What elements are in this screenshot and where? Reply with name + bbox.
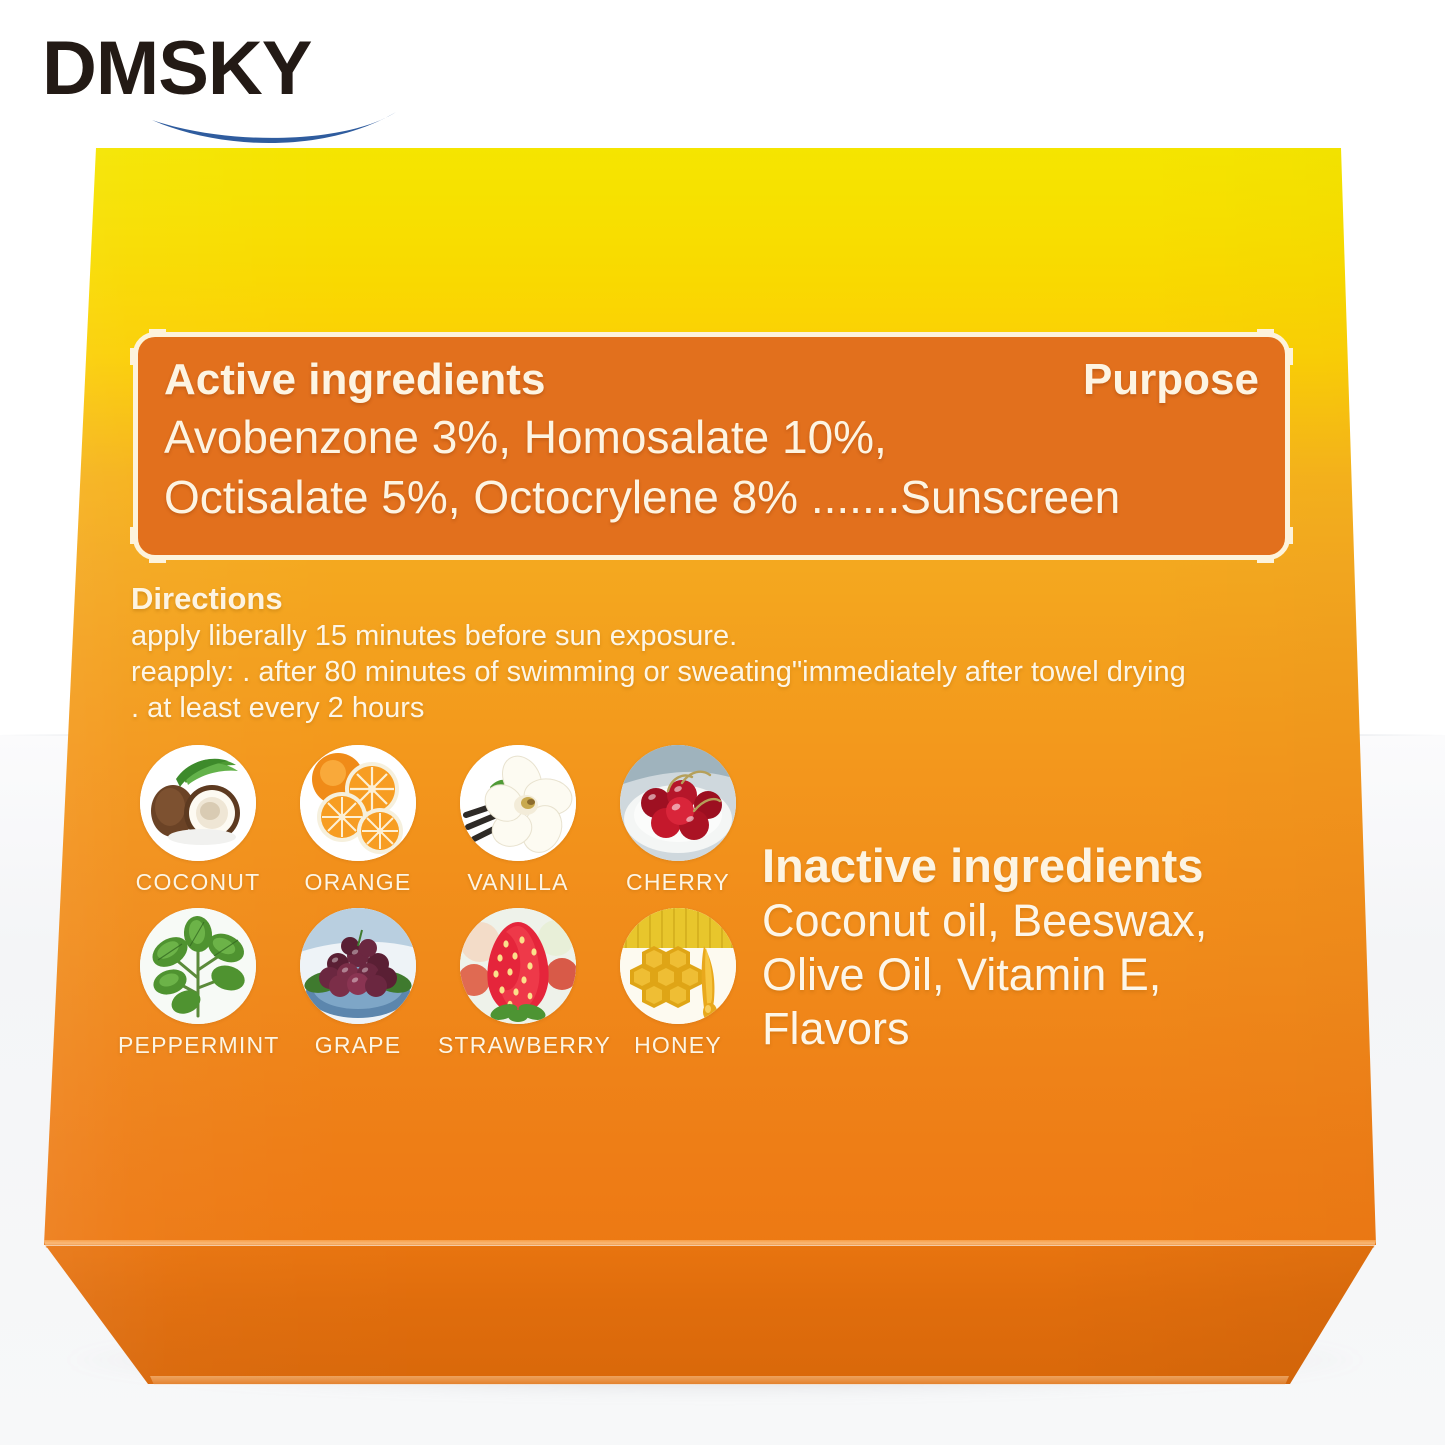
active-ingredients-line-1: Avobenzone 3%, Homosalate 10%, — [164, 409, 1259, 465]
inactive-ingredients-heading: Inactive ingredients — [762, 838, 1332, 894]
flavor-item-cherry: CHERRY — [598, 745, 758, 896]
product-package-scene: DMSKY Active ingredients Purpose — [0, 0, 1445, 1445]
cherry-icon — [620, 745, 736, 861]
flavor-item-strawberry: STRAWBERRY — [438, 908, 598, 1059]
coconut-icon — [140, 745, 256, 861]
active-ingredients-heading: Active ingredients — [164, 355, 545, 405]
inactive-ingredients-line-2: Olive Oil, Vitamin E, — [762, 948, 1332, 1002]
directions-line-3: . at least every 2 hours — [131, 690, 1341, 726]
directions-block: Directions apply liberally 15 minutes be… — [131, 580, 1341, 726]
strawberry-icon — [460, 908, 576, 1024]
grape-icon — [300, 908, 416, 1024]
box-bottom-lip — [0, 1376, 1445, 1386]
active-ingredients-panel: Active ingredients Purpose Avobenzone 3%… — [133, 332, 1290, 560]
flavor-row: PEPPERMINT — [118, 908, 758, 1059]
flavor-label: GRAPE — [278, 1032, 438, 1059]
flavor-label: HONEY — [598, 1032, 758, 1059]
panel-header-row: Active ingredients Purpose — [164, 355, 1259, 405]
flavor-item-honey: HONEY — [598, 908, 758, 1059]
flavor-grid: COCONUT — [118, 745, 758, 1071]
flavor-item-vanilla: VANILLA — [438, 745, 598, 896]
flavor-row: COCONUT — [118, 745, 758, 896]
flavor-label: ORANGE — [278, 869, 438, 896]
inactive-ingredients-line-1: Coconut oil, Beeswax, — [762, 894, 1332, 948]
flavor-label: STRAWBERRY — [438, 1032, 598, 1059]
flavor-label: CHERRY — [598, 869, 758, 896]
inactive-ingredients-line-3: Flavors — [762, 1002, 1332, 1056]
inactive-ingredients-block: Inactive ingredients Coconut oil, Beeswa… — [762, 838, 1332, 1056]
flavor-item-orange: ORANGE — [278, 745, 438, 896]
flavor-item-grape: GRAPE — [278, 908, 438, 1059]
flavor-label: PEPPERMINT — [118, 1032, 278, 1059]
flavor-item-coconut: COCONUT — [118, 745, 278, 896]
flavor-label: VANILLA — [438, 869, 598, 896]
active-ingredients-line-2: Octisalate 5%, Octocrylene 8% .......Sun… — [164, 469, 1259, 525]
orange-icon — [300, 745, 416, 861]
box-front-face — [0, 1246, 1445, 1386]
flavor-label: COCONUT — [118, 869, 278, 896]
honey-icon — [620, 908, 736, 1024]
flavor-item-peppermint: PEPPERMINT — [118, 908, 278, 1059]
panel-content: Active ingredients Purpose Avobenzone 3%… — [138, 337, 1285, 555]
directions-heading: Directions — [131, 580, 1341, 618]
directions-line-1: apply liberally 15 minutes before sun ex… — [131, 618, 1341, 654]
vanilla-icon — [460, 745, 576, 861]
peppermint-icon — [140, 908, 256, 1024]
directions-line-2: reapply: . after 80 minutes of swimming … — [131, 654, 1341, 690]
purpose-heading: Purpose — [1083, 355, 1259, 405]
